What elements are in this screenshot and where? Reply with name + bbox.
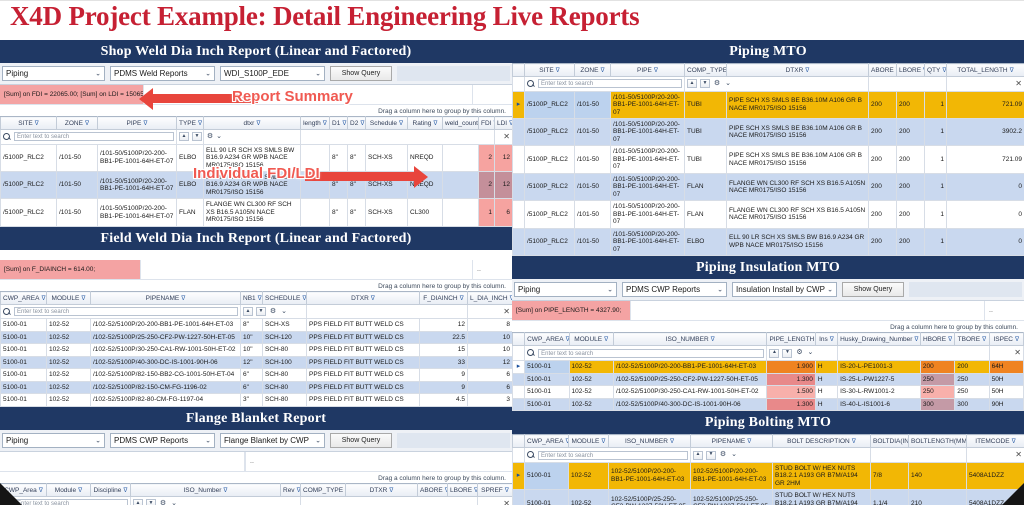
- filter-icon[interactable]: ᐁ: [39, 488, 43, 494]
- cell-l-dia-inch: 6: [468, 381, 513, 393]
- cell-itemcode: 5408A1DZZ: [967, 462, 1024, 489]
- cell-ins: H: [815, 360, 837, 373]
- col-label: QTY: [927, 67, 940, 74]
- report-group-dropdown-value: PDMS CWP Reports: [114, 436, 188, 445]
- chevron-down-icon[interactable]: ⌄: [730, 451, 738, 459]
- sort-desc-icon[interactable]: ▼: [700, 79, 710, 88]
- cell-qty: 1: [925, 91, 947, 118]
- col-header-f-diainch[interactable]: F_DIAINCHᐁ: [420, 292, 468, 305]
- col-label: SITE: [18, 120, 32, 127]
- report-dropdown-shop-weld[interactable]: WDI_S100P_EDE ⌄: [220, 66, 325, 81]
- filter-icon[interactable]: ᐁ: [830, 337, 834, 343]
- cell-cwp-area: 5100-01: [525, 462, 569, 489]
- col-header-iso-number[interactable]: ISO_NUMBERᐁ: [609, 435, 691, 448]
- col-label: PIPENAME: [146, 295, 180, 302]
- gear-icon[interactable]: ⚙: [719, 451, 727, 459]
- panel-title-piping-bolting-mto: Piping Bolting MTO: [512, 411, 1024, 434]
- chevron-down-icon[interactable]: ⌄: [215, 133, 223, 141]
- col-header-pipe-length[interactable]: PIPE_LENGTHᐁ: [767, 333, 815, 346]
- col-label: FDI: [481, 120, 491, 127]
- col-header-discipline[interactable]: Disciplineᐁ: [91, 484, 131, 497]
- col-header-zone[interactable]: ZONEᐁ: [57, 117, 98, 130]
- col-label: ISO_NUMBER: [666, 336, 709, 343]
- chevron-down-icon[interactable]: ⌄: [280, 308, 288, 316]
- cell-cwp-area: 5100-01: [525, 398, 569, 410]
- report-group-dropdown-insulation[interactable]: PDMS CWP Reports ⌄: [622, 282, 727, 297]
- clear-search-icon[interactable]: ✕: [468, 305, 513, 319]
- col-header-cwp-area[interactable]: CWP_AREAᐁ: [525, 435, 569, 448]
- cell-site: /5100P_RLC2: [1, 144, 57, 171]
- search-blank-cell: [869, 77, 947, 91]
- cell-comp-type: TUBI: [685, 91, 727, 118]
- filter-icon[interactable]: ᐁ: [258, 296, 262, 302]
- clear-search-icon[interactable]: ✕: [478, 497, 513, 505]
- col-header-schedule[interactable]: SCHEDULEᐁ: [263, 292, 307, 305]
- cell-dtxr: PPS FIELD FIT BUTT WELD CS: [307, 331, 420, 343]
- summary-secondary-cell: [472, 85, 512, 104]
- cell-comp-type: FLAN: [685, 173, 727, 200]
- cell-boltdia: 1.1/4: [871, 490, 909, 505]
- report-group-dropdown-flange-blanket[interactable]: PDMS CWP Reports ⌄: [110, 433, 215, 448]
- cell-husky-drawing-number: IS-20-L-PE1001-3: [838, 360, 921, 373]
- table-row[interactable]: 5100-01 102-52 /102-52/5100P/20-200-BB1-…: [1, 319, 513, 331]
- col-header-module[interactable]: MODULEᐁ: [569, 333, 613, 346]
- grid-body-piping-bolting-mto: ▸ 5100-01 102-52 102-52/5100P/20-200-BB1…: [513, 462, 1024, 505]
- cell-fdi: 12: [495, 171, 513, 198]
- col-header-abore[interactable]: ABOREᐁ: [418, 484, 448, 497]
- table-row[interactable]: /5100P_RLC2 /101-50 /101-50/5100P/20-200…: [1, 144, 513, 171]
- clear-search-icon[interactable]: ✕: [989, 346, 1023, 360]
- cell-nb1: 3": [241, 394, 263, 406]
- grid-body-piping-mto: ▸ /5100P_RLC2 /101-50 /101-50/5100P/20-2…: [513, 91, 1024, 255]
- discipline-dropdown-value: Piping: [6, 436, 28, 445]
- cell-pipe: /101-50/5100P/20-200-BB1-PE-1001-64H-ET-…: [611, 173, 685, 200]
- col-header-hbore[interactable]: HBOREᐁ: [920, 333, 954, 346]
- toolbar-flange-blanket: Piping ⌄ PDMS CWP Reports ⌄ Flange Blank…: [0, 430, 512, 452]
- cell-module: 102-52: [47, 394, 91, 406]
- col-header-ins[interactable]: Insᐁ: [815, 333, 837, 346]
- filter-icon[interactable]: ᐁ: [389, 488, 393, 494]
- col-header-tbore[interactable]: TBOREᐁ: [955, 333, 989, 346]
- col-header-boltdia[interactable]: BOLTDIA(IN)ᐁ: [871, 435, 909, 448]
- search-input[interactable]: Enter text to search: [14, 132, 174, 141]
- discipline-dropdown-value: Piping: [6, 69, 28, 78]
- table-row[interactable]: /5100P_RLC2 /101-50 /101-50/5100P/20-200…: [1, 171, 513, 198]
- table-row[interactable]: /5100P_RLC2 /101-50 /101-50/5100P/20-200…: [513, 201, 1024, 228]
- table-row[interactable]: 5100-01 102-52 /102-52/5100P/82-80-CM-FG…: [1, 394, 513, 406]
- right-column: Piping MTO SITEᐁ ZONEᐁ PIPEᐁ COMP_TYPEᐁ …: [512, 40, 1024, 505]
- cell-dtxr: FLANGE WN CL300 RF SCH XS B16.5 A105N NA…: [204, 199, 301, 226]
- sort-asc-icon[interactable]: ▲: [693, 451, 703, 460]
- cell-module: 102-52: [47, 319, 91, 331]
- col-header-boltlength[interactable]: BOLTLENGTH(MM)ᐁ: [909, 435, 967, 448]
- cell-nb1: 10": [241, 344, 263, 356]
- col-label: dtxr: [244, 120, 255, 127]
- cell-iso-number: 102-52/5100P/20-200-BB1-PE-1001-64H-ET-0…: [609, 462, 691, 489]
- cell-dtxr: ELL 90 LR SCH XS SMLS BW B16.9 A234 GR W…: [204, 144, 301, 171]
- col-header-total-length[interactable]: TOTAL_LENGTHᐁ: [947, 64, 1024, 77]
- filter-icon[interactable]: ᐁ: [81, 296, 85, 302]
- filter-icon[interactable]: ᐁ: [1010, 68, 1014, 74]
- filter-icon[interactable]: ᐁ: [323, 121, 327, 127]
- table-row[interactable]: 5100-01 102-52 /102-52/5100P/40-300-DC-I…: [1, 356, 513, 368]
- filter-icon[interactable]: ᐁ: [670, 439, 674, 445]
- cell-pipe: /101-50/5100P/20-200-BB1-PE-1001-64H-ET-…: [611, 201, 685, 228]
- gear-icon[interactable]: ⚙: [206, 133, 214, 141]
- cell-pipe: /101-50/5100P/20-200-BB1-PE-1001-64H-ET-…: [611, 146, 685, 173]
- col-header-rowmarker: [513, 64, 525, 77]
- summary-row-insulation: [Sum] on PIPE_LENGTH = 4327.90; ..: [512, 301, 1024, 321]
- filter-icon[interactable]: ᐁ: [1012, 439, 1016, 445]
- col-label: ISO_NUMBER: [625, 438, 668, 445]
- filter-icon[interactable]: ᐁ: [223, 488, 227, 494]
- group-hint-insulation[interactable]: Drag a column here to group by this colu…: [512, 321, 1024, 332]
- col-header-lbore[interactable]: LBOREᐁ: [897, 64, 925, 77]
- cell-tbore: 250: [955, 373, 989, 385]
- cell-f-diainch: 9: [420, 381, 468, 393]
- col-header-cwp-area[interactable]: CWP_AREAᐁ: [1, 292, 47, 305]
- table-row[interactable]: /5100P_RLC2 /101-50 /101-50/5100P/20-200…: [513, 118, 1024, 145]
- filter-icon[interactable]: ᐁ: [604, 337, 608, 343]
- cell-zone: /101-50: [57, 171, 98, 198]
- col-header-d1[interactable]: D1ᐁ: [330, 117, 348, 130]
- gear-icon[interactable]: ⚙: [159, 500, 167, 505]
- panel-title-piping-mto: Piping MTO: [512, 40, 1024, 63]
- cell-ispec: 50H: [989, 373, 1023, 385]
- col-header-abore[interactable]: ABOREᐁ: [869, 64, 897, 77]
- cell-total-length: 721.09: [947, 146, 1024, 173]
- table-row[interactable]: 5100-01 102-52 /102-52/5100P/82-150-BB2-…: [1, 369, 513, 381]
- group-hint-field-weld[interactable]: Drag a column here to group by this colu…: [0, 280, 512, 291]
- search-marker-cell: [513, 346, 525, 360]
- gear-icon[interactable]: ⚙: [713, 80, 721, 88]
- filter-icon[interactable]: ᐁ: [433, 121, 437, 127]
- filter-icon[interactable]: ᐁ: [852, 439, 856, 445]
- col-label: DTXR: [786, 67, 804, 74]
- show-query-button-flange-blanket[interactable]: Show Query: [330, 433, 392, 448]
- group-hint-shop-weld[interactable]: Drag a column here to group by this colu…: [0, 105, 512, 116]
- filter-icon[interactable]: ᐁ: [505, 488, 509, 494]
- table-row[interactable]: /5100P_RLC2 /101-50 /101-50/5100P/20-200…: [513, 173, 1024, 200]
- cell-l-dia-inch: 6: [468, 369, 513, 381]
- cell-f-diainch: 33: [420, 356, 468, 368]
- cell-ispec: 90H: [989, 398, 1023, 410]
- cell-abore: 200: [869, 91, 897, 118]
- table-row[interactable]: /5100P_RLC2 /101-50 /101-50/5100P/20-200…: [513, 146, 1024, 173]
- row-expand-icon[interactable]: ▸: [513, 91, 525, 118]
- col-header-dtxr[interactable]: dtxrᐁ: [204, 117, 301, 130]
- table-row[interactable]: ▸ 5100-01 102-52 102-52/5100P/20-200-BB1…: [513, 462, 1024, 489]
- table-row[interactable]: 5100-01 102-52 /102-52/5100P/30-250-CA1-…: [1, 344, 513, 356]
- col-header-l-dia-inch[interactable]: L_DIA_INCHᐁ: [468, 292, 513, 305]
- cell-site: /5100P_RLC2: [525, 201, 575, 228]
- filter-icon[interactable]: ᐁ: [256, 121, 260, 127]
- panel-title-flange-blanket: Flange Blanket Report: [0, 407, 512, 430]
- table-row[interactable]: ▸ /5100P_RLC2 /101-50 /101-50/5100P/20-2…: [513, 91, 1024, 118]
- col-header-itemcode[interactable]: ITEMCODEᐁ: [967, 435, 1024, 448]
- cell-dtxr: ELL 90 LR SCH XS SMLS BW B16.9 A234 GR W…: [204, 171, 301, 198]
- col-header-iso-number[interactable]: ISO_Numberᐁ: [131, 484, 281, 497]
- cell-module: 102-52: [569, 360, 613, 373]
- table-row[interactable]: 5100-01 102-52 102-52/5100P/25-250-CF2-P…: [513, 490, 1024, 505]
- sort-asc-icon[interactable]: ▲: [133, 499, 143, 505]
- col-header-pipename[interactable]: PIPENAMEᐁ: [91, 292, 241, 305]
- show-query-button-insulation[interactable]: Show Query: [842, 282, 904, 297]
- filter-icon[interactable]: ᐁ: [198, 121, 202, 127]
- col-header-cwp-area[interactable]: CWP_Areaᐁ: [1, 484, 47, 497]
- filter-icon[interactable]: ᐁ: [85, 121, 89, 127]
- filter-icon[interactable]: ᐁ: [78, 488, 82, 494]
- sort-desc-icon[interactable]: ▼: [146, 499, 156, 505]
- col-header-rowmarker: [513, 333, 525, 346]
- summary-secondary-cell: ..: [472, 260, 512, 279]
- cell-schedule: SCH-80: [263, 394, 307, 406]
- filter-icon[interactable]: ᐁ: [181, 296, 185, 302]
- filter-icon[interactable]: ᐁ: [41, 296, 45, 302]
- sort-asc-icon[interactable]: ▲: [179, 132, 189, 141]
- col-header-length[interactable]: lengthᐁ: [301, 117, 330, 130]
- col-header-pipe[interactable]: PIPEᐁ: [611, 64, 685, 77]
- col-header-module[interactable]: MODULEᐁ: [47, 292, 91, 305]
- col-label: CWP_AREA: [527, 438, 563, 445]
- sort-desc-icon[interactable]: ▼: [192, 132, 202, 141]
- search-blank-cell: [871, 448, 967, 462]
- table-row[interactable]: 5100-01 102-52 /102-52/5100P/40-300-DC-I…: [513, 398, 1024, 410]
- table-row[interactable]: /5100P_RLC2 /101-50 /101-50/5100P/20-200…: [513, 228, 1024, 255]
- search-icon: [3, 500, 11, 505]
- cell-ins: H: [815, 386, 837, 398]
- col-header-fdi[interactable]: FDIᐁ: [479, 117, 495, 130]
- cell-zone: /101-50: [575, 173, 611, 200]
- search-input[interactable]: Enter text to search: [538, 451, 688, 460]
- filter-icon[interactable]: ᐁ: [600, 68, 604, 74]
- search-input[interactable]: Enter text to search: [14, 499, 128, 505]
- col-header-qty[interactable]: QTYᐁ: [925, 64, 947, 77]
- grid-header-row: SITEᐁ ZONEᐁ PIPEᐁ COMP_TYPEᐁ DTXRᐁ ABORE…: [513, 64, 1024, 77]
- row-marker: [513, 118, 525, 145]
- col-label: LDI: [497, 120, 507, 127]
- table-row[interactable]: 5100-01 102-52 /102-52/5100P/25-250-CF2-…: [513, 373, 1024, 385]
- cell-nb1: 8": [241, 319, 263, 331]
- cell-comp-type: FLAN: [685, 201, 727, 228]
- cell-l-dia-inch: 3: [468, 394, 513, 406]
- col-label: SCHEDULE: [265, 295, 300, 302]
- sort-desc-icon[interactable]: ▼: [782, 349, 792, 358]
- filter-icon[interactable]: ᐁ: [654, 68, 658, 74]
- chevron-down-icon[interactable]: ⌄: [724, 80, 732, 88]
- table-row[interactable]: 5100-01 102-52 /102-52/5100P/82-150-CM-F…: [1, 381, 513, 393]
- discipline-dropdown-flange-blanket[interactable]: Piping ⌄: [2, 433, 105, 448]
- report-summary-field-weld: [Sum] on F_DIAINCH = 614.00;: [0, 260, 140, 279]
- cell-cwp-area: 5100-01: [525, 386, 569, 398]
- filter-icon[interactable]: ᐁ: [123, 488, 127, 494]
- clear-search-icon[interactable]: ✕: [495, 130, 513, 144]
- col-header-husky-drawing-number[interactable]: Husky_Drawing_Numberᐁ: [838, 333, 921, 346]
- discipline-dropdown-insulation[interactable]: Piping ⌄: [514, 282, 617, 297]
- col-header-cwp-area[interactable]: CWP_AREAᐁ: [525, 333, 569, 346]
- col-label: D2: [350, 120, 358, 127]
- report-group-dropdown-shop-weld[interactable]: PDMS Weld Reports ⌄: [110, 66, 215, 81]
- cell-ispec: 50H: [989, 386, 1023, 398]
- col-header-lbore[interactable]: LBOREᐁ: [448, 484, 478, 497]
- cell-cwp-area: 5100-01: [1, 319, 47, 331]
- table-row[interactable]: 5100-01 102-52 /102-52/5100P/25-250-CF2-…: [1, 331, 513, 343]
- col-header-module[interactable]: MODULEᐁ: [569, 435, 609, 448]
- filter-icon[interactable]: ᐁ: [982, 337, 986, 343]
- filter-icon[interactable]: ᐁ: [914, 337, 918, 343]
- sort-desc-icon[interactable]: ▼: [706, 451, 716, 460]
- sort-asc-icon[interactable]: ▲: [243, 307, 253, 316]
- row-marker: [513, 146, 525, 173]
- gear-icon[interactable]: ⚙: [795, 349, 803, 357]
- col-label: PIPE: [127, 120, 142, 127]
- toolbar-shop-weld: Piping ⌄ PDMS Weld Reports ⌄ WDI_S100P_E…: [0, 63, 512, 85]
- cell-fdi: 6: [495, 199, 513, 226]
- cell-module: 102-52: [47, 369, 91, 381]
- show-query-button-shop-weld[interactable]: Show Query: [330, 66, 392, 81]
- search-marker-cell: [513, 448, 525, 462]
- chevron-down-icon[interactable]: ⌄: [806, 349, 814, 357]
- col-header-schedule[interactable]: Scheduleᐁ: [366, 117, 408, 130]
- cell-module: 102-52: [47, 381, 91, 393]
- grid-shop-weld: SITEᐁ ZONEᐁ PIPEᐁ TYPEᐁ dtxrᐁ lengthᐁ D1…: [0, 116, 512, 226]
- col-header-spref[interactable]: SPREFᐁ: [478, 484, 513, 497]
- discipline-dropdown-shop-weld[interactable]: Piping ⌄: [2, 66, 105, 81]
- report-dropdown-flange-blanket[interactable]: Flange Blanket by CWP ⌄: [220, 433, 325, 448]
- cell-pipename: /102-52/5100P/82-80-CM-FG-1197-04: [91, 394, 241, 406]
- gear-icon[interactable]: ⚙: [269, 308, 277, 316]
- clear-search-icon[interactable]: ✕: [947, 77, 1024, 91]
- col-label: SITE: [539, 67, 553, 74]
- cell-zone: /101-50: [575, 118, 611, 145]
- col-header-ispec[interactable]: ISPECᐁ: [989, 333, 1023, 346]
- table-row[interactable]: /5100P_RLC2 /101-50 /101-50/5100P/20-200…: [1, 199, 513, 226]
- col-header-dtxr[interactable]: DTXRᐁ: [346, 484, 418, 497]
- panel-field-weld-report: Field Weld Dia Inch Report (Linear and F…: [0, 227, 512, 407]
- sort-desc-icon[interactable]: ▼: [256, 307, 266, 316]
- toolbar-filler: [397, 433, 510, 448]
- cell-length: [301, 144, 330, 171]
- col-header-type[interactable]: TYPEᐁ: [177, 117, 204, 130]
- col-header-comp-type[interactable]: COMP_TYPEᐁ: [685, 64, 727, 77]
- table-row[interactable]: ▸ 5100-01 102-52 /102-52/5100P/20-200-BB…: [513, 360, 1024, 373]
- cell-d2: 8": [348, 171, 366, 198]
- filter-icon[interactable]: ᐁ: [371, 296, 375, 302]
- cell-d2: 8": [348, 199, 366, 226]
- chevron-down-icon[interactable]: ⌄: [170, 500, 178, 505]
- cell-d1: 8": [330, 171, 348, 198]
- col-header-pipename[interactable]: PIPENAMEᐁ: [691, 435, 773, 448]
- search-input[interactable]: Enter text to search: [538, 79, 682, 88]
- cell-tbore: 250: [955, 386, 989, 398]
- sort-asc-icon[interactable]: ▲: [769, 349, 779, 358]
- cell-abore: 200: [869, 118, 897, 145]
- grid-search-row: Enter text to search ▲ ▼ ⚙ ⌄: [513, 77, 1024, 91]
- search-blank-cell: [301, 130, 495, 144]
- col-label: Schedule: [370, 120, 397, 127]
- cell-dtxr: PPS FIELD FIT BUTT WELD CS: [307, 319, 420, 331]
- col-header-ldi[interactable]: LDIᐁ: [495, 117, 513, 130]
- filter-icon[interactable]: ᐁ: [601, 439, 605, 445]
- cell-bolt-description: STUD BOLT W/ HEX NUTS B18.2.1 A193 GR B7…: [773, 490, 871, 505]
- row-expand-icon[interactable]: ▸: [513, 462, 525, 489]
- filter-icon[interactable]: ᐁ: [143, 121, 147, 127]
- search-sort-cell: ▲ ▼ ⚙ ⌄: [131, 497, 301, 505]
- cell-dtxr: ELL 90 LR SCH XS SMLS BW B16.9 A234 GR W…: [727, 228, 869, 255]
- col-label: CWP_AREA: [3, 295, 39, 302]
- col-header-bolt-description[interactable]: BOLT DESCRIPTIONᐁ: [773, 435, 871, 448]
- grid-body-shop-weld: /5100P_RLC2 /101-50 /101-50/5100P/20-200…: [1, 144, 513, 226]
- report-dropdown-insulation[interactable]: Insulation Install by CWP ⌄: [732, 282, 837, 297]
- filter-icon[interactable]: ᐁ: [711, 337, 715, 343]
- filter-icon[interactable]: ᐁ: [948, 337, 952, 343]
- cell-bolt-description: STUD BOLT W/ HEX NUTS B18.2.1 A193 GR B7…: [773, 462, 871, 489]
- cell-pipe-length: 1.900: [767, 360, 815, 373]
- sort-asc-icon[interactable]: ▲: [687, 79, 697, 88]
- search-input[interactable]: Enter text to search: [538, 349, 764, 358]
- col-header-pipe[interactable]: PIPEᐁ: [98, 117, 177, 130]
- panel-shop-weld-report: Shop Weld Dia Inch Report (Linear and Fa…: [0, 40, 512, 227]
- grid-header-row: CWP_AREAᐁ MODULEᐁ ISO_NUMBERᐁ PIPE_LENGT…: [513, 333, 1024, 346]
- grid-search-row: Enter text to search ▲ ▼ ⚙: [1, 130, 513, 144]
- cell-pipename: /102-52/5100P/20-200-BB1-PE-1001-64H-ET-…: [91, 319, 241, 331]
- cell-abore: 200: [869, 228, 897, 255]
- row-expand-icon[interactable]: ▸: [513, 360, 525, 373]
- col-header-d2[interactable]: D2ᐁ: [348, 117, 366, 130]
- col-header-comp-type[interactable]: COMP_TYPEᐁ: [301, 484, 346, 497]
- group-hint-flange-blanket[interactable]: Drag a column here to group by this colu…: [0, 472, 512, 483]
- cell-weldcount-hl: 2: [479, 144, 495, 171]
- cell-total-length: 0: [947, 201, 1024, 228]
- panel-piping-insulation-mto: Piping Insulation MTO Piping ⌄ PDMS CWP …: [512, 256, 1024, 411]
- filter-icon[interactable]: ᐁ: [460, 296, 464, 302]
- table-row[interactable]: 5100-01 102-52 /102-52/5100P/30-250-CA1-…: [513, 386, 1024, 398]
- col-header-site[interactable]: SITEᐁ: [525, 64, 575, 77]
- filter-icon[interactable]: ᐁ: [35, 121, 39, 127]
- search-icon: [527, 451, 535, 459]
- col-header-site[interactable]: SITEᐁ: [1, 117, 57, 130]
- filter-icon[interactable]: ᐁ: [1015, 337, 1019, 343]
- col-header-nb1[interactable]: NB1ᐁ: [241, 292, 263, 305]
- toolbar-field-weld: [0, 250, 512, 260]
- col-header-rating[interactable]: Ratingᐁ: [408, 117, 443, 130]
- filter-icon[interactable]: ᐁ: [342, 121, 346, 127]
- filter-icon[interactable]: ᐁ: [805, 68, 809, 74]
- page-title: X4D Project Example: Detail Engineering …: [10, 1, 640, 32]
- filter-icon[interactable]: ᐁ: [399, 121, 403, 127]
- col-header-dtxr[interactable]: DTXRᐁ: [727, 64, 869, 77]
- col-header-rev[interactable]: Revᐁ: [281, 484, 301, 497]
- col-header-iso-number[interactable]: ISO_NUMBERᐁ: [613, 333, 767, 346]
- col-header-weld-count[interactable]: weld_countᐁ: [443, 117, 479, 130]
- col-header-module[interactable]: Moduleᐁ: [47, 484, 91, 497]
- cell-rating: NREQD: [408, 171, 443, 198]
- cell-dtxr: PPS FIELD FIT BUTT WELD CS: [307, 369, 420, 381]
- col-label: DTXR: [351, 295, 369, 302]
- filter-icon[interactable]: ᐁ: [747, 439, 751, 445]
- grid-search-row: Enter text to search ▲ ▼ ⚙ ⌄: [513, 448, 1024, 462]
- grid-field-weld: CWP_AREAᐁ MODULEᐁ PIPENAMEᐁ NB1ᐁ SCHEDUL…: [0, 291, 512, 406]
- search-input[interactable]: Enter text to search: [14, 307, 238, 316]
- filter-icon[interactable]: ᐁ: [556, 68, 560, 74]
- filter-icon[interactable]: ᐁ: [360, 121, 364, 127]
- cell-zone: /101-50: [575, 201, 611, 228]
- col-header-zone[interactable]: ZONEᐁ: [575, 64, 611, 77]
- col-label: CWP_Area: [4, 487, 37, 494]
- clear-search-icon[interactable]: ✕: [967, 448, 1024, 462]
- cell-iso-number: /102-52/5100P/30-250-CA1-RW-1001-50H-ET-…: [613, 386, 767, 398]
- col-header-dtxr[interactable]: DTXRᐁ: [307, 292, 420, 305]
